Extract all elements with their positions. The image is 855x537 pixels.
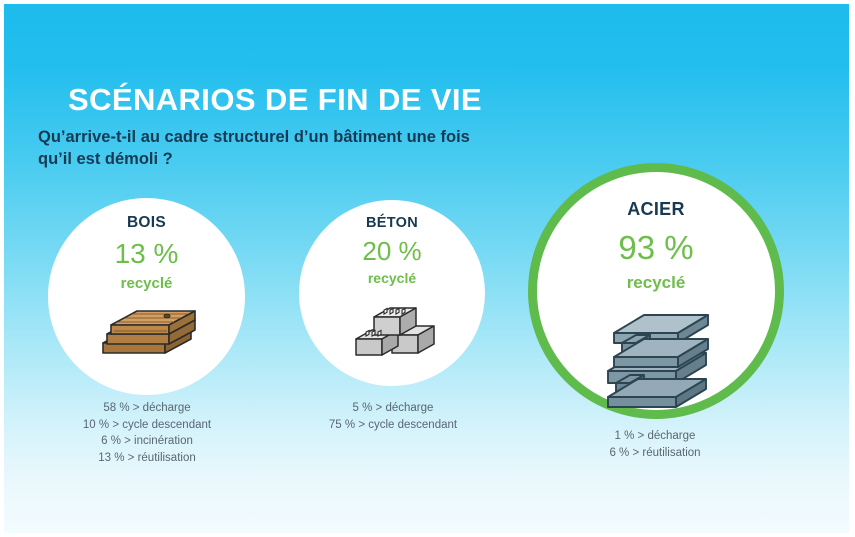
material-content-bois: BOIS 13 % recyclé [48, 198, 245, 395]
breakdown-line: 75 % > cycle descendant [300, 417, 486, 434]
breakdown-line: 6 % > incinération [52, 433, 242, 450]
breakdown-line: 5 % > décharge [300, 400, 486, 417]
material-content-acier: ACIER 93 % recyclé [537, 172, 775, 410]
breakdown-line: 58 % > décharge [52, 400, 242, 417]
page-frame-bottom [0, 533, 855, 537]
breakdown-line: 13 % > réutilisation [52, 450, 242, 467]
material-breakdown-bois: 58 % > décharge 10 % > cycle descendant … [52, 400, 242, 466]
material-percent-beton: 20 % [362, 238, 421, 264]
material-name-acier: ACIER [627, 199, 685, 220]
breakdown-line: 6 % > réutilisation [540, 445, 770, 462]
material-circle-beton: BÉTON 20 % recyclé [299, 200, 485, 386]
page-frame-left [0, 0, 4, 537]
breakdown-line: 10 % > cycle descendant [52, 417, 242, 434]
wood-planks-icon [95, 303, 199, 372]
breakdown-line: 1 % > décharge [540, 428, 770, 445]
page-subtitle: Qu’arrive-t-il au cadre structurel d’un … [38, 127, 508, 171]
material-percent-bois: 13 % [115, 240, 179, 268]
material-circle-bois: BOIS 13 % recyclé [48, 198, 245, 395]
material-name-bois: BOIS [127, 214, 166, 232]
infographic-poster: SCÉNARIOS DE FIN DE VIE Qu’arrive-t-il a… [0, 0, 855, 537]
page-frame-top [0, 0, 855, 4]
material-content-beton: BÉTON 20 % recyclé [299, 200, 485, 386]
material-recycled-label-bois: recyclé [121, 276, 173, 291]
page-title: SCÉNARIOS DE FIN DE VIE [68, 84, 482, 117]
material-recycled-label-beton: recyclé [368, 271, 416, 285]
concrete-blocks-icon [346, 295, 438, 366]
material-recycled-label-acier: recyclé [627, 274, 686, 291]
material-percent-acier: 93 % [618, 231, 693, 264]
page-frame-right [849, 0, 855, 537]
material-breakdown-acier: 1 % > décharge 6 % > réutilisation [540, 428, 770, 461]
steel-beams-icon [594, 305, 718, 414]
material-circle-acier: ACIER 93 % recyclé [528, 163, 784, 419]
material-name-beton: BÉTON [366, 215, 418, 231]
material-breakdown-beton: 5 % > décharge 75 % > cycle descendant [300, 400, 486, 433]
